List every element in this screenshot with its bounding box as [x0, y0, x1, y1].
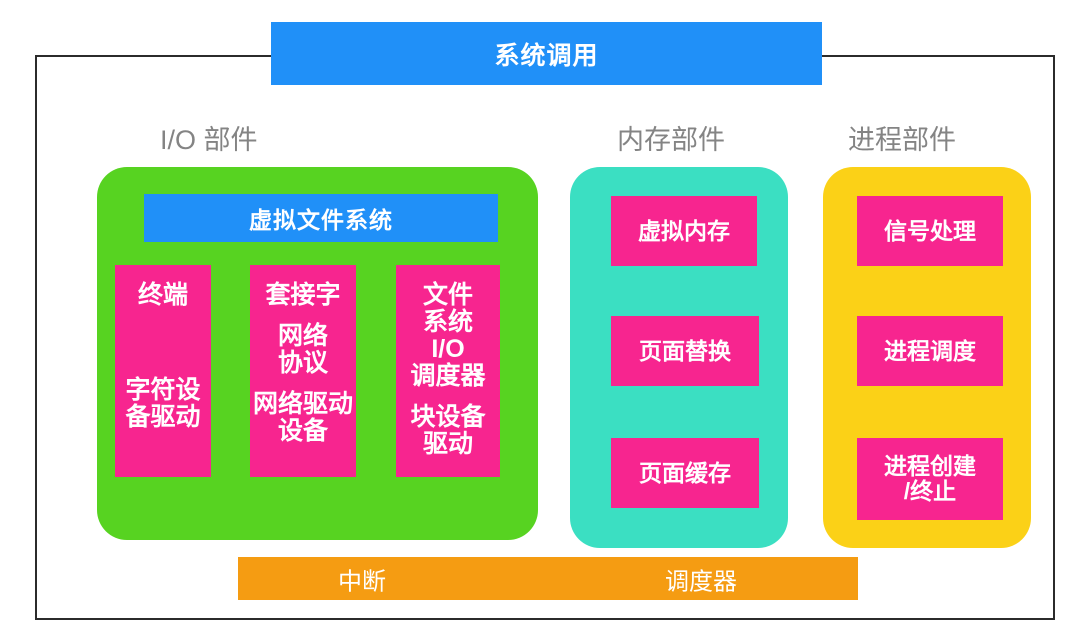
- io-block-filesystem-line-4: 块设备: [410, 404, 485, 431]
- memory-block-virtual-memory-label: 虚拟内存: [638, 219, 730, 244]
- os-architecture-diagram: 系统调用 I/O 部件 内存部件 进程部件 虚拟文件系统 终端 字符设 备驱动 …: [0, 0, 1080, 641]
- io-block-filesystem-line-1: 系统: [423, 309, 473, 336]
- section-title-process: 进程部件: [848, 118, 956, 157]
- memory-block-page-cache-label: 页面缓存: [639, 461, 731, 486]
- scheduler-label: 调度器: [665, 561, 737, 596]
- io-block-network-line-3: 网络驱动: [253, 391, 353, 418]
- interrupt-scheduler-bar: 中断 调度器: [238, 557, 858, 600]
- memory-block-page-replacement: 页面替换: [611, 316, 759, 386]
- io-block-network-line-1: 网络: [278, 323, 328, 350]
- system-call-label: 系统调用: [494, 36, 598, 72]
- section-title-memory: 内存部件: [617, 118, 725, 157]
- section-title-io: I/O 部件: [160, 118, 258, 157]
- io-block-filesystem-line-0: 文件: [423, 282, 473, 309]
- process-block-scheduling: 进程调度: [857, 316, 1003, 386]
- io-block-filesystem-line-2: I/O: [431, 336, 464, 363]
- interrupt-label: 中断: [338, 561, 386, 596]
- io-block-network-line-0: 套接字: [265, 282, 340, 309]
- process-block-scheduling-label: 进程调度: [884, 339, 976, 364]
- process-block-create-terminate: 进程创建 /终止: [857, 438, 1003, 520]
- system-call-bar: 系统调用: [271, 22, 822, 85]
- process-block-signal-handling-label: 信号处理: [884, 219, 976, 244]
- io-block-network-line-4: 设备: [278, 418, 328, 445]
- io-block-network: 套接字 网络 协议 网络驱动 设备: [250, 265, 356, 477]
- io-block-terminal: 终端 字符设 备驱动: [115, 265, 211, 477]
- process-block-signal-handling: 信号处理: [857, 196, 1003, 266]
- memory-block-page-cache: 页面缓存: [611, 438, 759, 508]
- virtual-file-system-label: 虚拟文件系统: [249, 201, 393, 235]
- io-block-filesystem-line-5: 驱动: [423, 431, 473, 458]
- memory-block-virtual-memory: 虚拟内存: [611, 196, 757, 266]
- io-block-terminal-line-2: 备驱动: [125, 404, 200, 431]
- io-block-terminal-line-1: 字符设: [125, 377, 200, 404]
- process-block-create-terminate-line-1: /终止: [904, 479, 956, 504]
- process-block-create-terminate-line-0: 进程创建: [884, 454, 976, 479]
- io-block-filesystem: 文件 系统 I/O 调度器 块设备 驱动: [396, 265, 500, 477]
- memory-block-page-replacement-label: 页面替换: [639, 339, 731, 364]
- io-block-filesystem-line-3: 调度器: [410, 363, 485, 390]
- io-block-network-line-2: 协议: [278, 350, 328, 377]
- io-block-terminal-line-0: 终端: [138, 282, 188, 309]
- virtual-file-system-bar: 虚拟文件系统: [144, 194, 498, 242]
